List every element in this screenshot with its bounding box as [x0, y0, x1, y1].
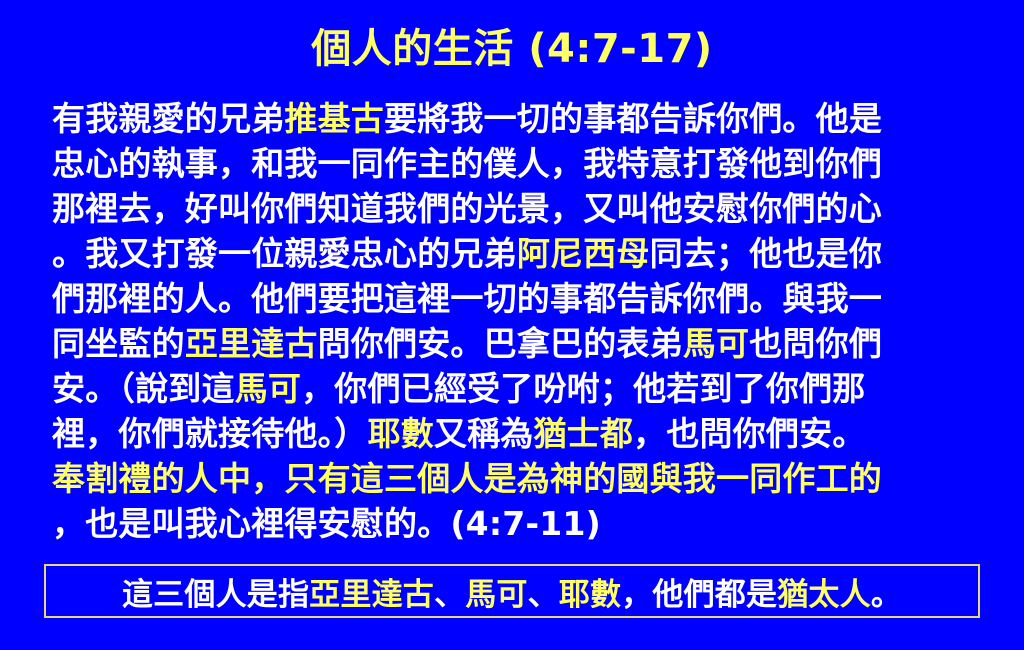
text-segment-c-2: 、: [434, 577, 465, 613]
highlighted-name-l6-1: 馬可: [235, 369, 301, 408]
highlighted-name-c-3: 馬可: [465, 577, 527, 613]
text-segment-l1-0: 忠心的執事，和我一同作主的僕人，我特意打發他到你們: [52, 144, 882, 183]
page-title: 個人的生活 (4:7-17): [0, 27, 1024, 71]
text-segment-l3-0: 。我又打發一位親愛忠心的兄弟: [52, 234, 517, 273]
highlighted-name-l3-1: 阿尼西母: [517, 234, 650, 273]
text-segment-l7-2: 又稱為: [434, 414, 534, 453]
text-segment-l4-0: 們那裡的人。他們要把這裡一切的事都告訴你們。與我一: [52, 279, 882, 318]
text-segment-l6-0: 安。（說到這: [52, 369, 235, 408]
summary-callout-box: 這三個人是指亞里達古、馬可、耶數，他們都是猶太人。: [44, 564, 980, 618]
body-line: 那裡去，好叫你們知道我們的光景，又叫他安慰你們的心: [52, 186, 974, 231]
text-segment-l6-2: ，你們已經受了吩咐；他若到了你們那: [301, 369, 865, 408]
text-segment-l5-0: 同坐監的: [52, 324, 185, 363]
text-segment-l2-0: 那裡去，好叫你們知道我們的光景，又叫他安慰你們的心: [52, 189, 882, 228]
text-segment-l0-0: 有我親愛的兄弟: [52, 99, 284, 138]
body-line: 同坐監的亞里達古問你們安。巴拿巴的表弟馬可也問你們: [52, 321, 974, 366]
highlighted-name-l0-1: 推基古: [284, 99, 384, 138]
highlighted-name-l7-1: 耶數: [368, 414, 434, 453]
highlighted-name-l8-0: 奉割禮的人中，只有這三個人是為神的國與我一同作工的: [52, 459, 882, 498]
body-line: ，也是叫我心裡得安慰的。(4:7-11): [52, 501, 974, 546]
body-line: 們那裡的人。他們要把這裡一切的事都告訴你們。與我一: [52, 276, 974, 321]
body-line: 。我又打發一位親愛忠心的兄弟阿尼西母同去；他也是你: [52, 231, 974, 276]
text-segment-c-6: ，他們都是: [621, 577, 777, 613]
highlighted-name-l5-3: 馬可: [683, 324, 749, 363]
text-segment-l7-4: ，也問你們安。: [633, 414, 865, 453]
text-segment-l3-2: 同去；他也是你: [650, 234, 882, 273]
highlighted-name-c-5: 耶數: [559, 577, 621, 613]
body-line: 奉割禮的人中，只有這三個人是為神的國與我一同作工的: [52, 456, 974, 501]
text-segment-l5-4: 也問你們: [749, 324, 882, 363]
text-segment-l5-2: 問你們安。巴拿巴的表弟: [318, 324, 683, 363]
text-segment-l9-0: ，也是叫我心裡得安慰的。(4:7-11): [52, 504, 601, 543]
highlighted-name-c-1: 亞里達古: [309, 577, 434, 613]
body-line: 安。（說到這馬可，你們已經受了吩咐；他若到了你們那: [52, 366, 974, 411]
text-segment-c-4: 、: [528, 577, 559, 613]
body-line: 忠心的執事，和我一同作主的僕人，我特意打發他到你們: [52, 141, 974, 186]
body-line: 有我親愛的兄弟推基古要將我一切的事都告訴你們。他是: [52, 96, 974, 141]
summary-callout-text: 這三個人是指亞里達古、馬可、耶數，他們都是猶太人。: [122, 569, 902, 614]
highlighted-name-l5-1: 亞里達古: [185, 324, 318, 363]
highlighted-name-c-7: 猶太人: [777, 577, 871, 613]
text-segment-l0-2: 要將我一切的事都告訴你們。他是: [384, 99, 882, 138]
text-segment-c-0: 這三個人是指: [122, 577, 309, 613]
text-segment-l7-0: 裡，你們就接待他。）: [52, 414, 368, 453]
text-segment-c-8: 。: [871, 577, 902, 613]
body-line: 裡，你們就接待他。）耶數又稱為猶士都，也問你們安。: [52, 411, 974, 456]
highlighted-name-l7-3: 猶士都: [534, 414, 634, 453]
body-text-block: 有我親愛的兄弟推基古要將我一切的事都告訴你們。他是忠心的執事，和我一同作主的僕人…: [52, 96, 974, 546]
slide-canvas: 個人的生活 (4:7-17) 有我親愛的兄弟推基古要將我一切的事都告訴你們。他是…: [0, 0, 1024, 650]
